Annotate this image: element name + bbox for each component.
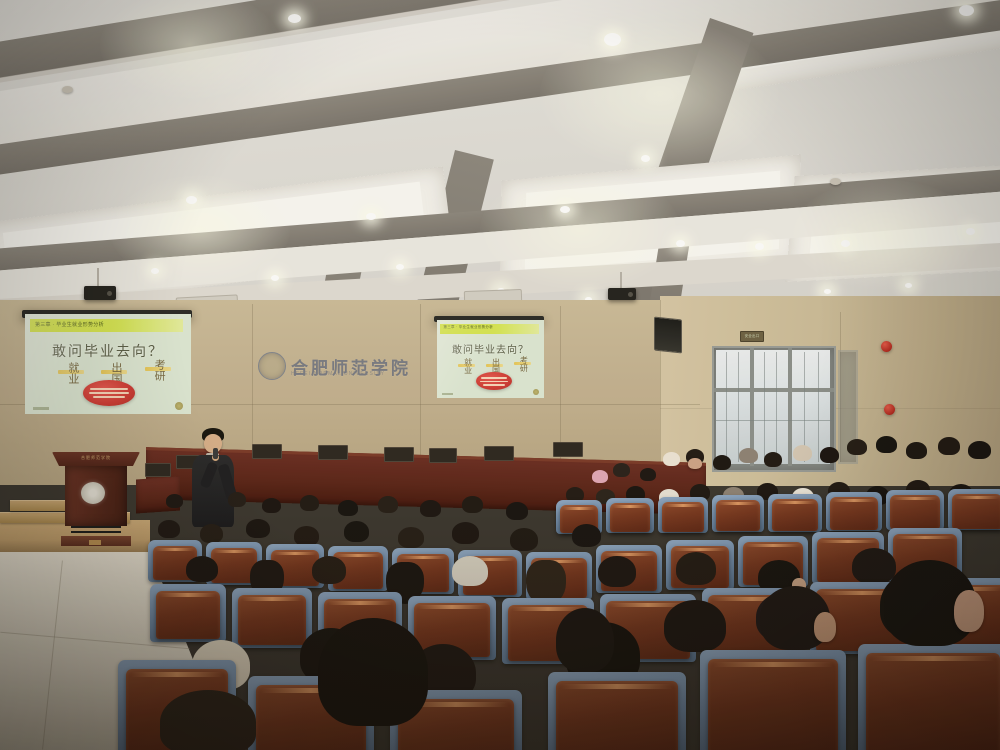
university-name-en: HEFEI NORMAL UNIVERSITY [291, 371, 385, 377]
slide-logo-icon [175, 402, 183, 410]
slide-callout [476, 372, 512, 390]
left-projection-screen[interactable]: 第三章 · 毕业生就业形势分析 敢问毕业去向？ 就业 出国 考研 [25, 314, 191, 414]
exit-sign-label: 安全出口 [745, 334, 760, 339]
ceiling-downlight [271, 275, 279, 281]
ceiling-downlight [755, 243, 764, 250]
slide-callout [83, 380, 135, 406]
wall-panel [384, 447, 414, 462]
wall-panel [318, 445, 348, 460]
ceiling-downlight [366, 213, 376, 220]
wall-panel [252, 444, 282, 459]
ceiling-downlight [396, 264, 404, 270]
wall-panel [484, 446, 514, 461]
callout-line-1 [481, 377, 507, 379]
right-projection-screen[interactable]: 第三章 · 毕业生就业形势分析 敢问毕业去向？ 就业 出国 考研 [437, 320, 544, 398]
callout-line-3 [93, 396, 125, 398]
callout-line-3 [483, 384, 505, 386]
slide-option-0: 就业 [463, 358, 474, 374]
slide-option-2: 考研 [518, 356, 529, 372]
callout-line-2 [89, 392, 129, 394]
exit-sign: 安全出口 [740, 331, 764, 342]
projector-lens-icon [628, 292, 633, 297]
callout-line-2 [480, 381, 508, 383]
ceiling-downlight [151, 268, 159, 274]
wall-panel [145, 463, 171, 477]
wall-speaker [654, 317, 682, 354]
smoke-detector-icon [830, 178, 841, 185]
podium: 合肥师范学院 [55, 452, 137, 544]
slide-footer-mark [442, 393, 453, 395]
university-seal-icon [258, 352, 286, 380]
fire-alarm-bell [884, 404, 895, 415]
ceiling-downlight [905, 283, 912, 288]
podium-plate [89, 540, 101, 545]
ceiling [0, 0, 1000, 330]
smoke-detector-icon [62, 86, 73, 93]
ceiling-downlight [604, 33, 621, 46]
ceiling-downlight [841, 240, 850, 247]
microphone [213, 448, 218, 459]
ceiling-downlight [288, 14, 301, 23]
ceiling-downlight [186, 196, 197, 204]
ceiling-downlight [959, 5, 974, 16]
slide-title: 敢问毕业去向？ [25, 341, 191, 361]
fire-alarm-bell [881, 341, 892, 352]
wall-panel [553, 442, 583, 457]
slide-logo-icon [533, 389, 539, 395]
slide-option-0: 就业 [65, 362, 81, 384]
university-emblem: 合肥师范学院 HEFEI NORMAL UNIVERSITY [258, 352, 411, 380]
slide-title: 敢问毕业去向？ [437, 341, 544, 356]
projector-lens-icon [107, 291, 112, 296]
callout-line-1 [90, 388, 128, 390]
podium-label: 合肥师范学院 [52, 455, 140, 461]
podium-seal-icon [81, 482, 105, 504]
slide-footer-mark [33, 407, 49, 410]
wall-panel [429, 448, 457, 463]
ceiling-downlight [641, 155, 650, 162]
ceiling-downlight [676, 240, 685, 247]
lecture-hall-photo: 合肥师范学院 HEFEI NORMAL UNIVERSITY 安全出口 第三章 … [0, 0, 1000, 750]
ceiling-downlight [824, 289, 831, 294]
slide-header-text: 第三章 · 毕业生就业形势分析 [35, 321, 104, 328]
ceiling-downlight [560, 206, 570, 213]
slide-header-text: 第三章 · 毕业生就业形势分析 [443, 325, 493, 330]
ceiling-downlight [966, 228, 975, 235]
slide-option-2: 考研 [151, 359, 167, 381]
projector-mount-pole [97, 268, 99, 288]
podium-top: 合肥师范学院 [52, 452, 140, 466]
